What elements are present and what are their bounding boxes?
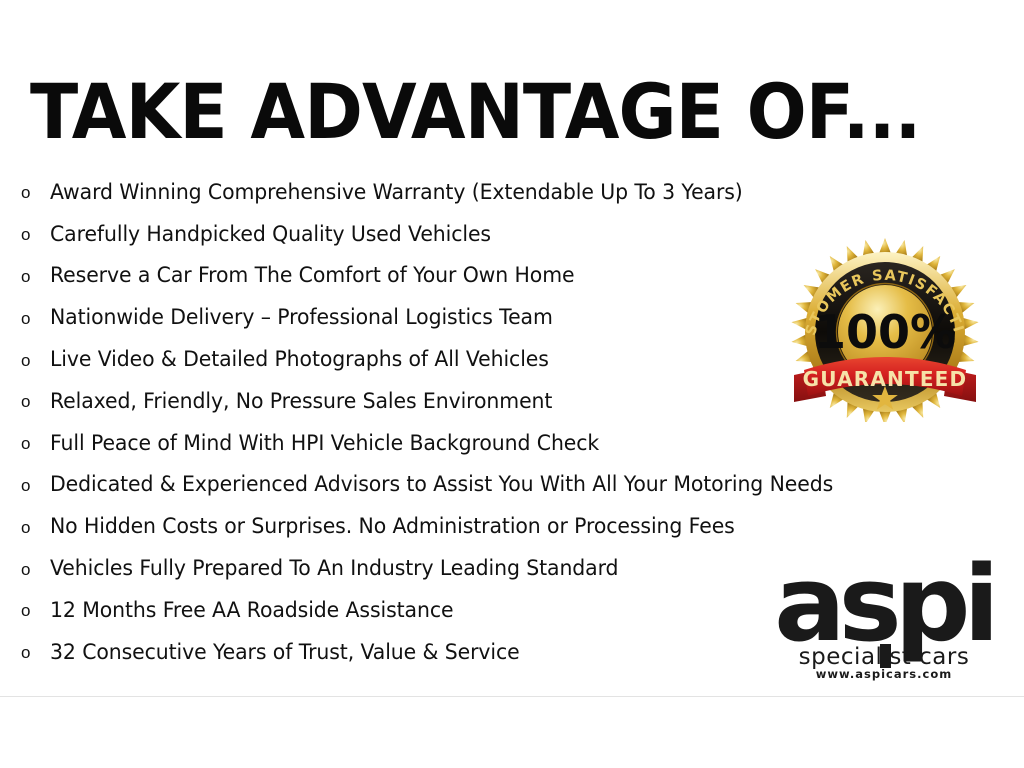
list-item-label: No Hidden Costs or Surprises. No Adminis…: [50, 514, 735, 540]
list-item-label: Dedicated & Experienced Advisors to Assi…: [50, 472, 833, 498]
bullet-marker-icon: o: [16, 519, 50, 536]
bullet-marker-icon: o: [16, 644, 50, 661]
bottom-divider: [0, 696, 1024, 697]
logo-separator-block: [880, 644, 891, 668]
badge-ribbon-text: GUARANTEED: [803, 367, 968, 391]
slide-canvas: TAKE ADVANTAGE OF... o Award Winning Com…: [0, 0, 1024, 768]
list-item-label: Relaxed, Friendly, No Pressure Sales Env…: [50, 389, 552, 415]
bullet-marker-icon: o: [16, 268, 50, 285]
list-item: o Award Winning Comprehensive Warranty (…: [16, 172, 976, 214]
list-item-label: Vehicles Fully Prepared To An Industry L…: [50, 556, 618, 582]
list-item-label: Reserve a Car From The Comfort of Your O…: [50, 263, 574, 289]
bullet-marker-icon: o: [16, 310, 50, 327]
list-item-label: Carefully Handpicked Quality Used Vehicl…: [50, 222, 491, 248]
list-item: o Dedicated & Experienced Advisors to As…: [16, 465, 976, 507]
list-item-label: Full Peace of Mind With HPI Vehicle Back…: [50, 431, 599, 457]
bullet-marker-icon: o: [16, 226, 50, 243]
list-item: o Full Peace of Mind With HPI Vehicle Ba…: [16, 423, 976, 465]
bullet-marker-icon: o: [16, 184, 50, 201]
list-item-label: Nationwide Delivery – Professional Logis…: [50, 305, 553, 331]
bullet-marker-icon: o: [16, 435, 50, 452]
bullet-marker-icon: o: [16, 477, 50, 494]
logo-website: www.aspicars.com: [816, 667, 952, 681]
bullet-marker-icon: o: [16, 602, 50, 619]
list-item: o No Hidden Costs or Surprises. No Admin…: [16, 506, 976, 548]
bullet-marker-icon: o: [16, 393, 50, 410]
page-title: TAKE ADVANTAGE OF...: [30, 74, 920, 150]
list-item-label: Live Video & Detailed Photographs of All…: [50, 347, 549, 373]
aspi-logo: aspi specialist cars www.aspicars.com: [766, 548, 1002, 684]
list-item-label: Award Winning Comprehensive Warranty (Ex…: [50, 180, 743, 206]
customer-satisfaction-badge-icon: CUSTOMER SATISFACTION 100% GUARANTEED: [786, 236, 984, 422]
list-item-label: 32 Consecutive Years of Trust, Value & S…: [50, 640, 520, 666]
bullet-marker-icon: o: [16, 561, 50, 578]
badge-center-text: 100%: [814, 305, 956, 359]
bullet-marker-icon: o: [16, 352, 50, 369]
list-item-label: 12 Months Free AA Roadside Assistance: [50, 598, 453, 624]
